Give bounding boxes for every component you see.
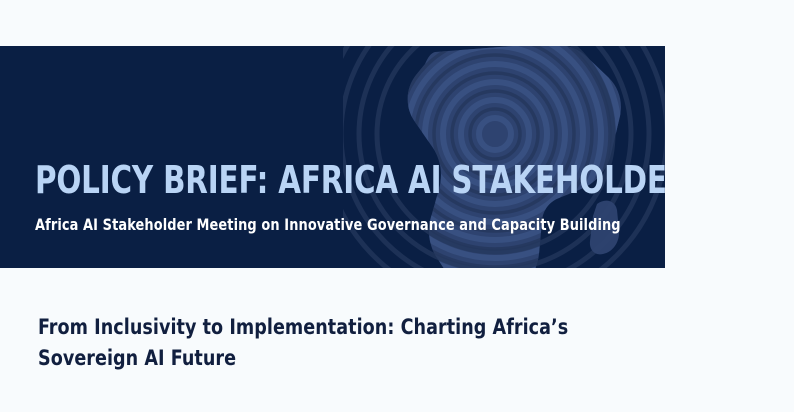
hero-banner: POLICY BRIEF: AFRICA AI STAKEHOLDER MEET… bbox=[0, 46, 665, 268]
policy-brief-page: POLICY BRIEF: AFRICA AI STAKEHOLDER MEET… bbox=[0, 0, 794, 412]
page-title: POLICY BRIEF: AFRICA AI STAKEHOLDER MEET… bbox=[35, 158, 665, 202]
body-heading: From Inclusivity to Implementation: Char… bbox=[38, 312, 559, 374]
hero-text-block: POLICY BRIEF: AFRICA AI STAKEHOLDER MEET… bbox=[35, 46, 665, 268]
body-heading-line-1: From Inclusivity to Implementation: Char… bbox=[38, 312, 559, 343]
page-subtitle: Africa AI Stakeholder Meeting on Innovat… bbox=[35, 214, 621, 236]
body-heading-line-2: Sovereign AI Future bbox=[38, 343, 559, 374]
